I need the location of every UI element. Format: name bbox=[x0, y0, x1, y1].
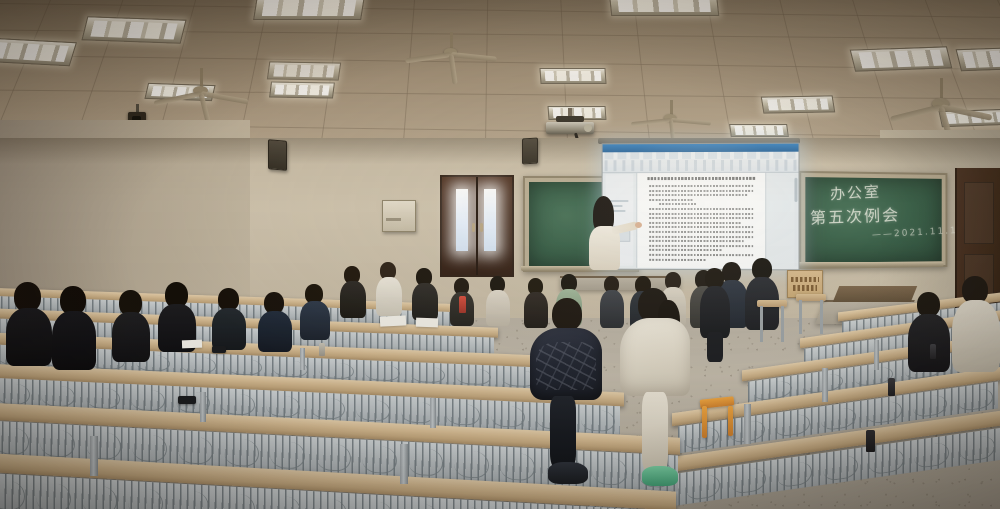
ceiling-light-panel bbox=[850, 46, 953, 71]
audience-member bbox=[700, 268, 730, 360]
document-title-line bbox=[647, 177, 754, 180]
presenter bbox=[585, 196, 637, 274]
desk-leg bbox=[430, 398, 436, 428]
audience-member-right bbox=[952, 276, 1000, 372]
document-scrollbar-thumb[interactable] bbox=[794, 178, 797, 202]
shoe bbox=[642, 466, 678, 486]
door-handle-right[interactable] bbox=[480, 223, 483, 232]
water-bottle bbox=[319, 343, 325, 356]
audience-member bbox=[340, 266, 366, 318]
wall-speaker bbox=[268, 139, 287, 171]
leg bbox=[642, 392, 668, 472]
ceiling-fan bbox=[160, 68, 280, 118]
door-handle-left[interactable] bbox=[472, 223, 475, 232]
ceiling-fan bbox=[638, 100, 738, 140]
ceiling-fan bbox=[410, 32, 530, 78]
audience-member bbox=[300, 284, 330, 340]
chalkboard-line-1: 办公室 bbox=[829, 181, 881, 205]
audience-member-front-left bbox=[530, 298, 602, 488]
audience-member bbox=[258, 292, 292, 352]
audience-member bbox=[412, 268, 438, 320]
ceiling-light-panel bbox=[0, 38, 77, 67]
jacket-logo-print bbox=[536, 342, 596, 390]
door-glass-left bbox=[456, 189, 468, 251]
leg bbox=[550, 396, 576, 468]
desk-leg bbox=[90, 436, 98, 476]
ceiling-light-panel bbox=[81, 16, 186, 43]
ceiling-light-panel bbox=[609, 0, 720, 16]
audience-member bbox=[6, 282, 52, 366]
ceiling-light-panel bbox=[253, 0, 365, 20]
wooden-chair bbox=[757, 300, 787, 344]
desk-leg bbox=[874, 340, 879, 370]
podium-riser bbox=[833, 286, 917, 302]
desk-leg bbox=[200, 392, 206, 422]
shoe bbox=[548, 462, 588, 484]
ribbon-tabs bbox=[605, 152, 800, 160]
ribbon-icons bbox=[605, 160, 800, 171]
back-double-door[interactable] bbox=[440, 175, 514, 277]
audience-member bbox=[112, 290, 150, 362]
ceiling-light-panel bbox=[956, 47, 1000, 72]
classroom-photo: 办公室 第五次例会 ——2021.11.10 bbox=[0, 0, 1000, 509]
head bbox=[552, 298, 582, 331]
paper-sheet bbox=[416, 318, 438, 328]
ceiling-light-panel bbox=[539, 68, 606, 84]
audience-member bbox=[212, 288, 246, 350]
document-page bbox=[636, 173, 766, 268]
phone[interactable] bbox=[178, 396, 196, 404]
desk-leg bbox=[400, 444, 408, 484]
door-center-seam bbox=[476, 177, 478, 275]
orange-chair-leg bbox=[728, 406, 733, 436]
ceiling-light-panel bbox=[761, 95, 835, 113]
wall-shadow bbox=[0, 138, 1000, 164]
audience-member bbox=[486, 276, 510, 326]
audience-member bbox=[376, 262, 402, 316]
wall-speaker bbox=[522, 138, 538, 165]
desk-leg bbox=[744, 404, 751, 444]
paper-sheet bbox=[182, 340, 202, 349]
water-bottle bbox=[866, 430, 875, 452]
phone[interactable] bbox=[212, 346, 226, 353]
paper-sheet bbox=[380, 315, 406, 326]
audience-member bbox=[52, 286, 96, 370]
orange-chair-leg bbox=[702, 406, 707, 438]
hoodie bbox=[620, 318, 690, 396]
desk-leg bbox=[822, 368, 828, 402]
electrical-panel bbox=[382, 200, 416, 232]
water-bottle bbox=[888, 378, 895, 396]
audience-member-front-right bbox=[620, 288, 690, 498]
app-ribbon bbox=[603, 152, 799, 174]
chalk-tray bbox=[799, 262, 943, 267]
desk-leg bbox=[300, 348, 305, 370]
ceiling-fan bbox=[880, 78, 1000, 138]
presenter-hand bbox=[635, 222, 642, 228]
door-glass-right bbox=[484, 189, 496, 251]
ceiling-light-panel bbox=[729, 124, 789, 137]
document-body-text bbox=[649, 185, 754, 263]
wooden-chair bbox=[796, 294, 826, 336]
water-bottle bbox=[930, 344, 936, 359]
chalkboard-line-2: 第五次例会 bbox=[810, 201, 901, 228]
audience-member-right bbox=[908, 292, 950, 372]
water-bottle bbox=[459, 296, 466, 313]
